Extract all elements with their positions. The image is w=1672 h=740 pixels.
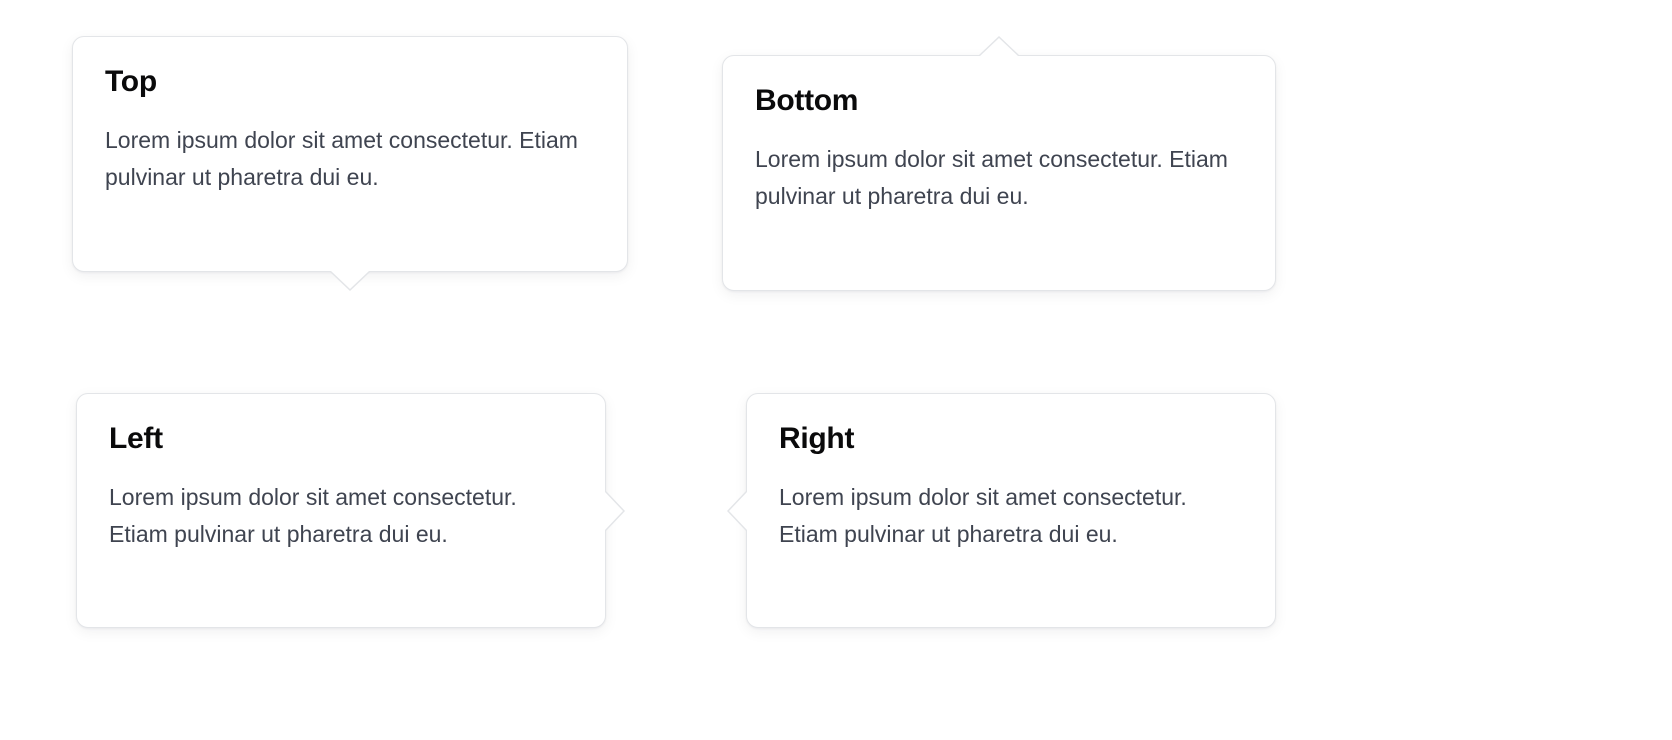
- popover-title: Right: [779, 422, 1243, 457]
- popover-right[interactable]: Right Lorem ipsum dolor sit amet consect…: [746, 393, 1276, 628]
- popover-showcase-canvas: Top Lorem ipsum dolor sit amet consectet…: [0, 0, 1672, 740]
- popover-title: Bottom: [755, 84, 1243, 119]
- popover-body: Lorem ipsum dolor sit amet consectetur. …: [755, 141, 1243, 216]
- popover-body: Lorem ipsum dolor sit amet consectetur. …: [105, 122, 595, 197]
- popover-left[interactable]: Left Lorem ipsum dolor sit amet consecte…: [76, 393, 606, 628]
- popover-body: Lorem ipsum dolor sit amet consectetur. …: [109, 479, 573, 554]
- popover-top[interactable]: Top Lorem ipsum dolor sit amet consectet…: [72, 36, 628, 272]
- popover-bottom[interactable]: Bottom Lorem ipsum dolor sit amet consec…: [722, 55, 1276, 291]
- popover-title: Left: [109, 422, 573, 457]
- popover-body: Lorem ipsum dolor sit amet consectetur. …: [779, 479, 1243, 554]
- popover-title: Top: [105, 65, 595, 100]
